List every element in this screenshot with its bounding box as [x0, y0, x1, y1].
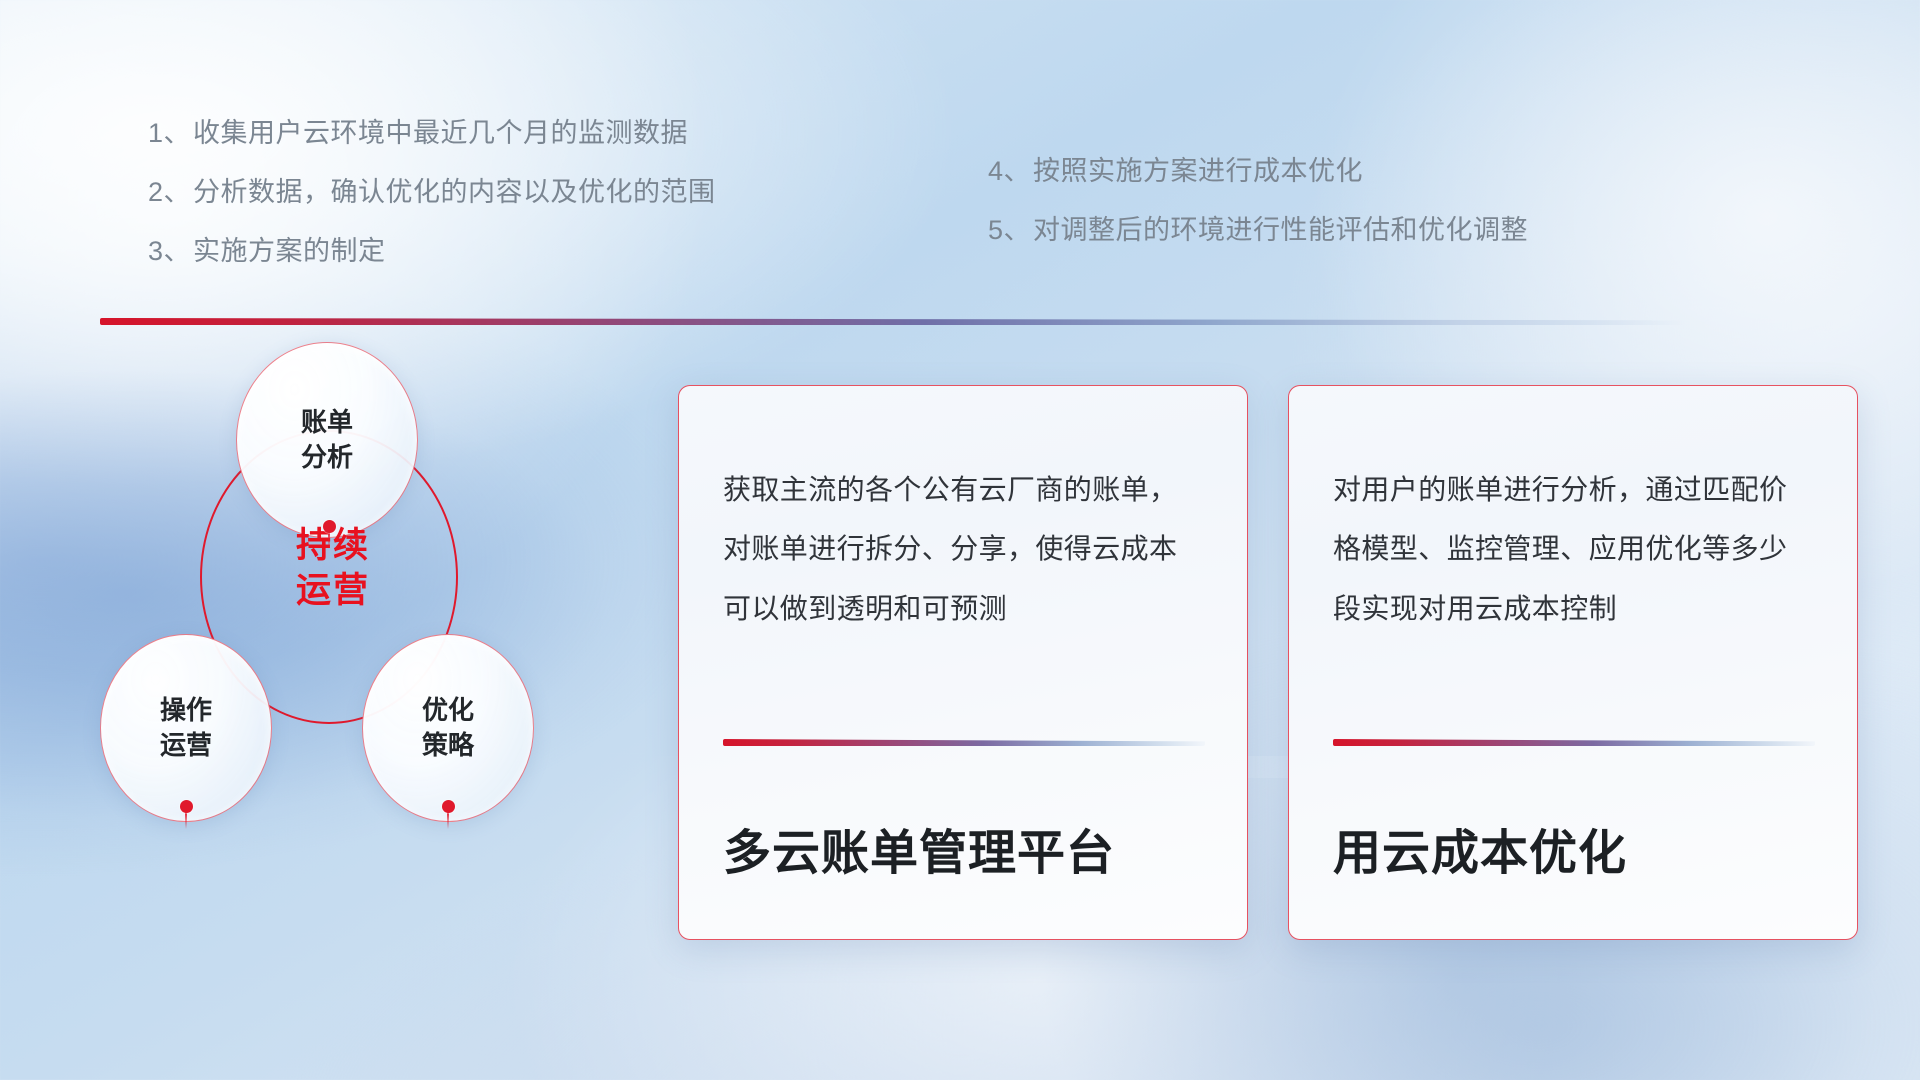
- diagram-bubble-optimization-strategy[interactable]: 优化 策略: [362, 634, 534, 822]
- diagram-center-label: 持续 运营: [258, 524, 408, 614]
- step-text: 实施方案的制定: [193, 236, 386, 266]
- step-text: 分析数据，确认优化的内容以及优化的范围: [193, 177, 716, 207]
- bubble-label-line2: 运营: [160, 728, 212, 763]
- step-number: 2、: [148, 177, 191, 207]
- connector-tick-right: [447, 812, 449, 829]
- card-divider-rule: [1333, 739, 1815, 746]
- bubble-label-line2: 分析: [301, 440, 353, 475]
- cycle-diagram: 账单 分析 操作 运营 优化 策略 持续 运营: [90, 352, 560, 822]
- step-item: 5、对调整后的环境进行性能评估和优化调整: [988, 217, 1528, 244]
- card-title: 用云成本优化: [1333, 828, 1627, 881]
- diagram-bubble-bill-analysis[interactable]: 账单 分析: [236, 342, 418, 538]
- bubble-label-line1: 操作: [160, 693, 212, 728]
- info-card-multicloud-billing[interactable]: 获取主流的各个公有云厂商的账单，对账单进行拆分、分享，使得云成本可以做到透明和可…: [678, 385, 1248, 940]
- step-number: 1、: [148, 118, 191, 148]
- step-item: 2、分析数据，确认优化的内容以及优化的范围: [148, 179, 716, 206]
- connector-dot-left: [180, 800, 193, 813]
- connector-dot-top: [323, 520, 336, 533]
- step-item: 1、收集用户云环境中最近几个月的监测数据: [148, 120, 716, 147]
- bubble-label-line1: 账单: [301, 405, 353, 440]
- section-divider-rule: [100, 318, 1685, 325]
- steps-right-column: 4、按照实施方案进行成本优化 5、对调整后的环境进行性能评估和优化调整: [988, 158, 1528, 276]
- bubble-label-line2: 策略: [422, 728, 474, 763]
- step-number: 4、: [988, 156, 1031, 186]
- diagram-bubble-operations[interactable]: 操作 运营: [100, 634, 272, 822]
- step-number: 5、: [988, 215, 1031, 245]
- step-item: 3、实施方案的制定: [148, 238, 716, 265]
- step-item: 4、按照实施方案进行成本优化: [988, 158, 1528, 185]
- info-card-cloud-cost-optimization[interactable]: 对用户的账单进行分析，通过匹配价格模型、监控管理、应用优化等多少段实现对用云成本…: [1288, 385, 1858, 940]
- card-body-text: 对用户的账单进行分析，通过匹配价格模型、监控管理、应用优化等多少段实现对用云成本…: [1333, 460, 1813, 638]
- card-body-text: 获取主流的各个公有云厂商的账单，对账单进行拆分、分享，使得云成本可以做到透明和可…: [723, 460, 1203, 638]
- step-text: 对调整后的环境进行性能评估和优化调整: [1033, 215, 1528, 245]
- card-divider-rule: [723, 739, 1205, 746]
- connector-tick-top: [328, 532, 330, 549]
- card-title: 多云账单管理平台: [723, 828, 1115, 881]
- bubble-label-line1: 优化: [422, 693, 474, 728]
- connector-tick-left: [185, 812, 187, 829]
- center-label-line2: 运营: [258, 569, 408, 614]
- steps-left-column: 1、收集用户云环境中最近几个月的监测数据 2、分析数据，确认优化的内容以及优化的…: [148, 120, 716, 297]
- step-number: 3、: [148, 236, 191, 266]
- connector-dot-right: [442, 800, 455, 813]
- step-text: 收集用户云环境中最近几个月的监测数据: [193, 118, 688, 148]
- step-text: 按照实施方案进行成本优化: [1033, 156, 1363, 186]
